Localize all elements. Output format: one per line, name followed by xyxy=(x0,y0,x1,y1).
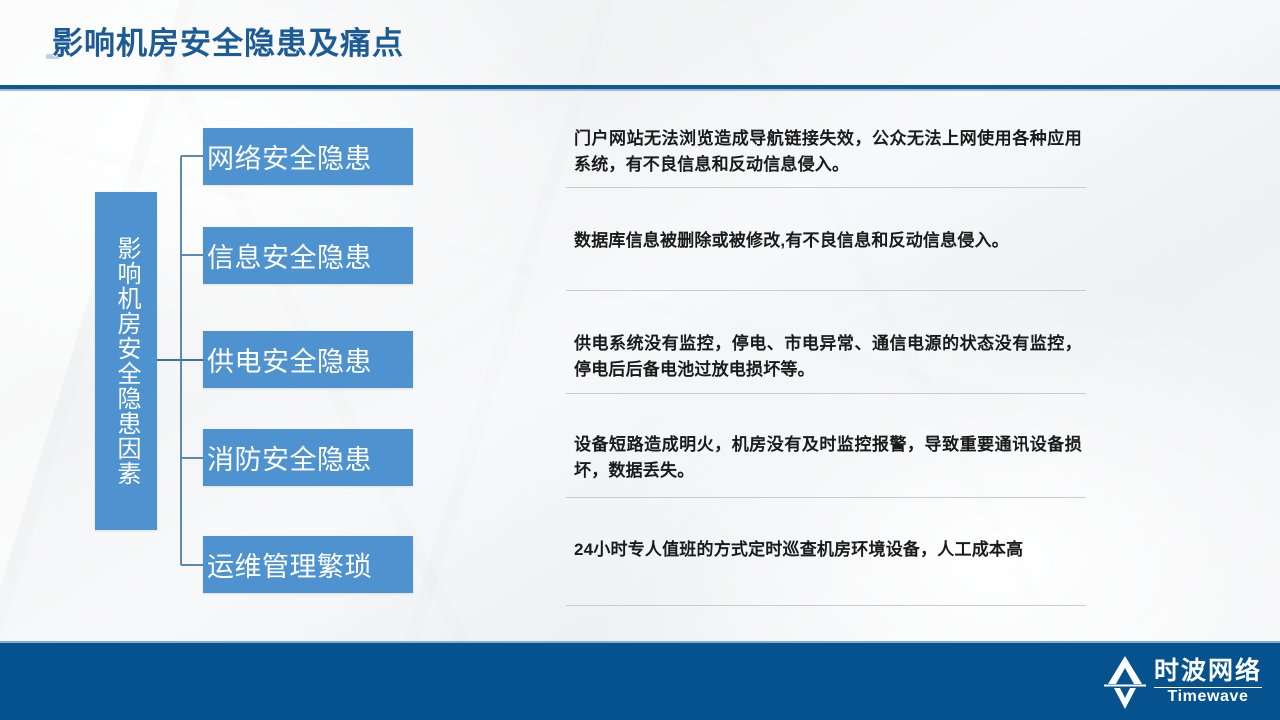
logo-wordmark: 时波网络 Timewave xyxy=(1154,658,1262,705)
description-separator xyxy=(566,393,1086,394)
category-label: 消防安全隐患 xyxy=(203,438,372,477)
category-box-power[interactable]: 供电安全隐患 xyxy=(203,331,413,388)
slide: 影响机房安全隐患及痛点 影响机房安全隐患因素 网络安全隐患 信息安全隐患 供电安… xyxy=(0,0,1280,720)
company-logo: 时波网络 Timewave xyxy=(1102,651,1262,713)
root-category-label: 影响机房安全隐患因素 xyxy=(113,236,139,486)
description-item: 供电系统没有监控，停电、市电异常、通信电源的状态没有监控，停电后后备电池过放电损… xyxy=(566,331,1088,384)
category-label: 供电安全隐患 xyxy=(203,340,372,379)
description-text: 供电系统没有监控，停电、市电异常、通信电源的状态没有监控，停电后后备电池过放电损… xyxy=(566,331,1088,384)
description-item: 门户网站无法浏览造成导航链接失效，公众无法上网使用各种应用系统，有不良信息和反动… xyxy=(566,126,1088,179)
description-text: 门户网站无法浏览造成导航链接失效，公众无法上网使用各种应用系统，有不良信息和反动… xyxy=(566,126,1088,179)
logo-text-cn: 时波网络 xyxy=(1154,658,1262,684)
description-separator xyxy=(566,290,1086,291)
category-label: 信息安全隐患 xyxy=(203,236,372,275)
category-box-network[interactable]: 网络安全隐患 xyxy=(203,128,413,185)
page-title: 影响机房安全隐患及痛点 xyxy=(52,18,404,63)
description-separator xyxy=(566,605,1086,606)
category-box-operations[interactable]: 运维管理繁琐 xyxy=(203,536,413,593)
description-text: 设备短路造成明火，机房没有及时监控报警，导致重要通讯设备损坏，数据丢失。 xyxy=(566,432,1088,485)
wave-logo-icon xyxy=(1102,653,1148,711)
header-divider-line-secondary xyxy=(0,89,1280,91)
category-box-fire[interactable]: 消防安全隐患 xyxy=(203,429,413,486)
slide-footer: 时波网络 Timewave xyxy=(0,641,1280,720)
logo-text-en: Timewave xyxy=(1167,689,1248,706)
category-label: 运维管理繁琐 xyxy=(203,545,372,584)
description-item: 设备短路造成明火，机房没有及时监控报警，导致重要通讯设备损坏，数据丢失。 xyxy=(566,432,1088,485)
slide-header: 影响机房安全隐患及痛点 xyxy=(0,0,1280,92)
description-text: 数据库信息被删除或被修改,有不良信息和反动信息侵入。 xyxy=(566,228,1088,254)
description-item: 数据库信息被删除或被修改,有不良信息和反动信息侵入。 xyxy=(566,228,1088,254)
description-separator xyxy=(566,187,1086,188)
description-text: 24小时专人值班的方式定时巡查机房环境设备，人工成本高 xyxy=(566,537,1088,563)
category-box-information[interactable]: 信息安全隐患 xyxy=(203,227,413,284)
description-item: 24小时专人值班的方式定时巡查机房环境设备，人工成本高 xyxy=(566,537,1088,563)
description-separator xyxy=(566,497,1086,498)
root-category-box: 影响机房安全隐患因素 xyxy=(95,192,157,530)
category-label: 网络安全隐患 xyxy=(203,137,372,176)
